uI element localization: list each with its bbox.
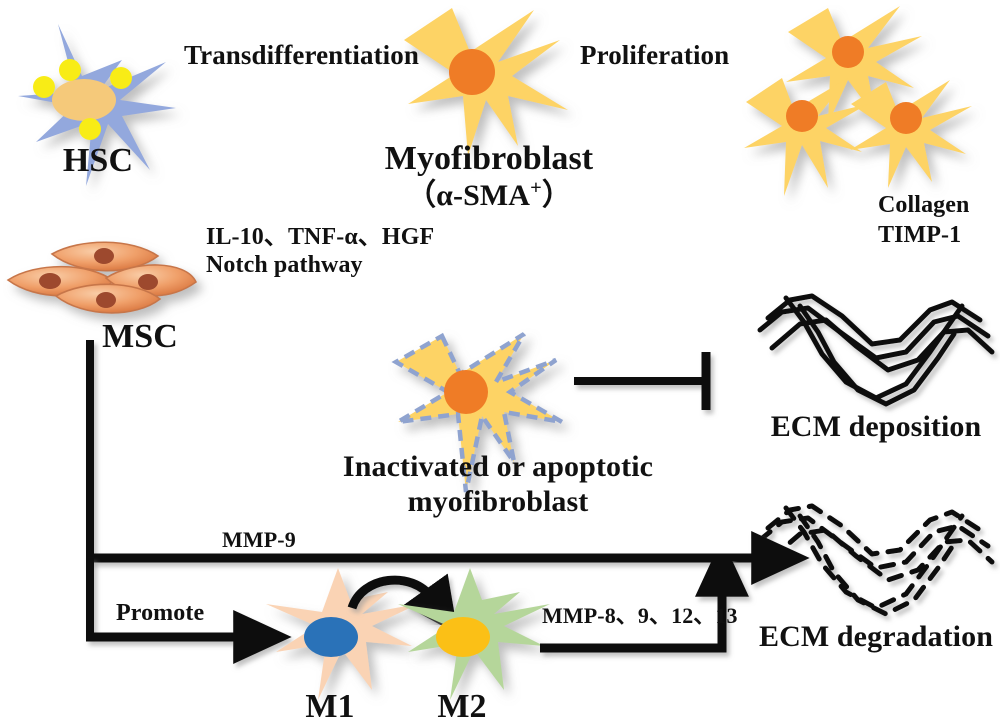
proliferated-nucleus — [832, 36, 864, 68]
ecm-degradation-fibres — [760, 506, 992, 614]
hsc-lipid-droplet — [33, 76, 55, 98]
m1-label: M1 — [305, 688, 354, 726]
myofibroblast-cell — [404, 8, 568, 156]
proliferated-nucleus — [786, 100, 818, 132]
msc-nucleus — [138, 274, 158, 290]
promote-label: Promote — [116, 600, 204, 627]
timp1-label: TIMP-1 — [878, 222, 961, 249]
ecm-deposition-fibres — [760, 296, 992, 404]
inactivated-nucleus — [444, 370, 488, 414]
msc-nucleus — [39, 273, 61, 289]
ecm-deposition-label: ECM deposition — [771, 410, 982, 444]
ecm-degradation-label: ECM degradation — [759, 620, 993, 654]
inhibition-tbar — [574, 352, 706, 410]
hsc-lipid-droplet — [59, 59, 81, 81]
proliferated-nucleus — [890, 102, 922, 134]
m1-nucleus — [304, 617, 358, 657]
msc-factors-label-line2: Notch pathway — [206, 252, 363, 279]
myofibroblast-nucleus — [449, 49, 495, 95]
hsc-lipid-droplet — [79, 118, 101, 140]
m2-nucleus — [436, 617, 490, 657]
inactivated-label-line1: Inactivated or apoptotic — [343, 450, 653, 484]
diagram-canvas: HSC Transdifferentiation Proliferation M… — [0, 0, 1000, 728]
transdifferentiation-label: Transdifferentiation — [184, 40, 419, 70]
msc-label: MSC — [102, 318, 178, 356]
asma-prefix: （α-SMA — [406, 179, 530, 212]
proliferation-label: Proliferation — [580, 40, 729, 70]
msc-factors-label-line1: IL-10、TNF-α、HGF — [206, 224, 434, 251]
m2-label: M2 — [437, 688, 486, 726]
hsc-nucleus — [52, 79, 116, 121]
msc-nucleus — [96, 292, 116, 308]
inactivated-label-line2: myofibroblast — [408, 485, 589, 519]
m1-macrophage-cell — [266, 568, 418, 700]
collagen-label: Collagen — [878, 192, 969, 219]
asma-suffix: ） — [542, 179, 572, 212]
hsc-label: HSC — [63, 142, 133, 180]
myofibroblast-sublabel: （α-SMA+） — [406, 177, 572, 213]
asma-superscript: + — [530, 177, 542, 199]
myofibroblast-label: Myofibroblast — [385, 140, 593, 178]
hsc-lipid-droplet — [110, 67, 132, 89]
mmp9-label: MMP-9 — [222, 528, 296, 553]
msc-nucleus — [94, 248, 114, 264]
mmps-label: MMP-8、9、12、13 — [542, 604, 738, 629]
msc-cell-cluster — [8, 242, 196, 313]
